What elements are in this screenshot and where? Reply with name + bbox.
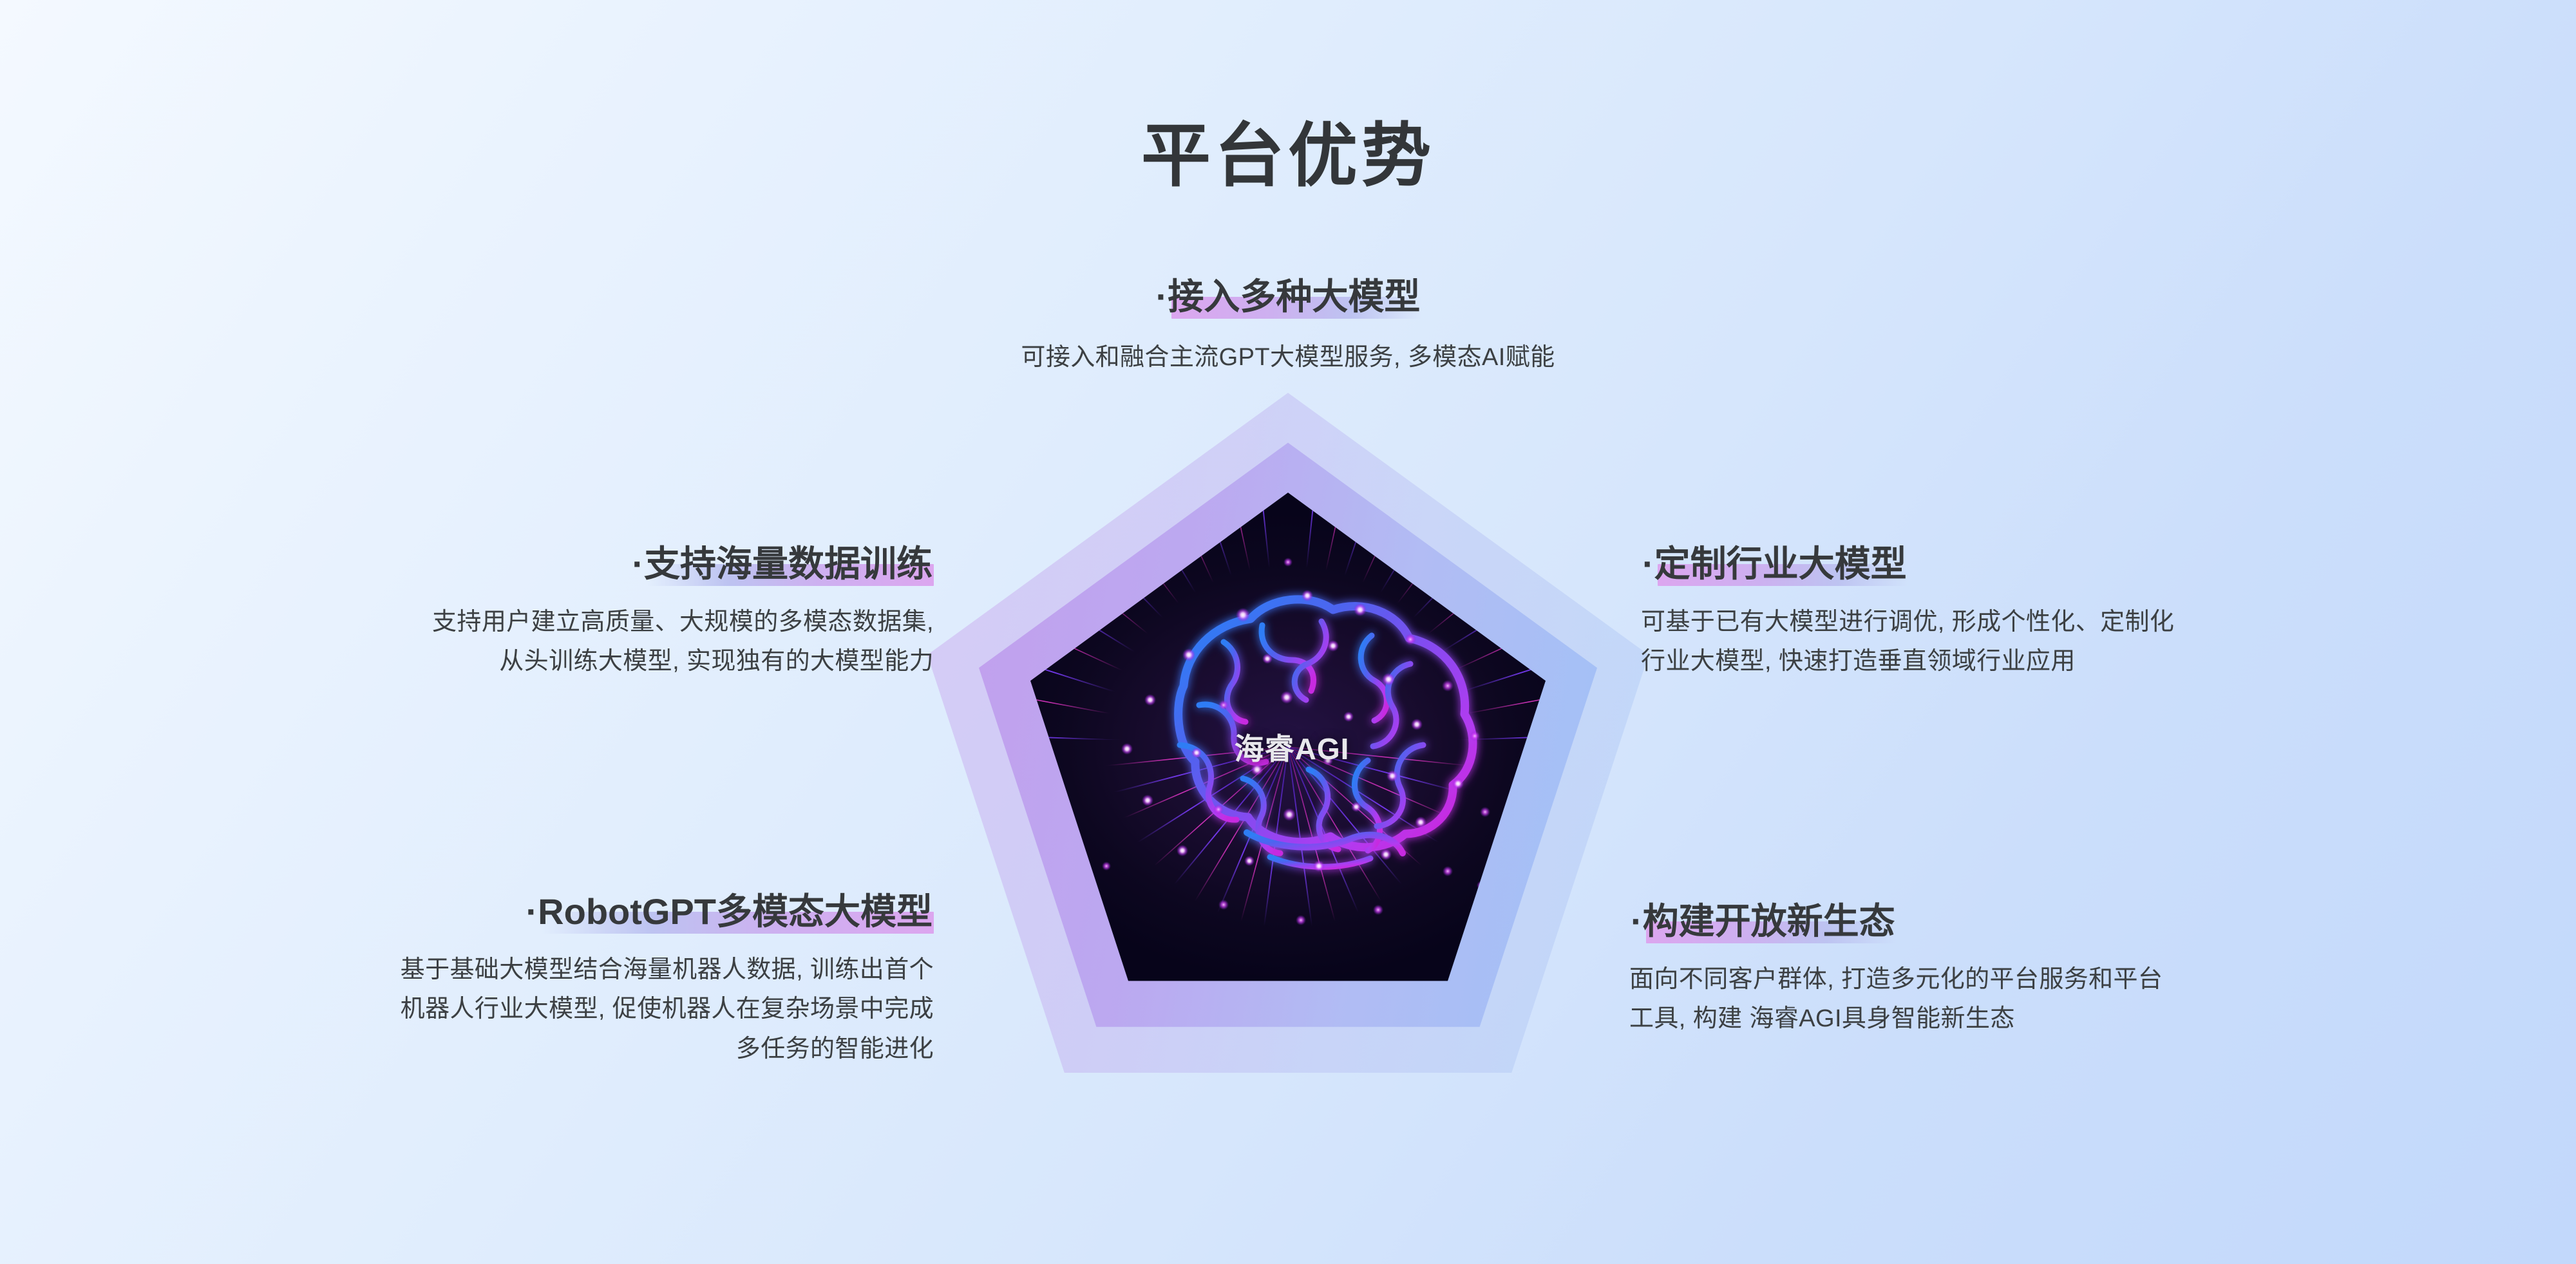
feature-description: 支持用户建立高质量、大规模的多模态数据集, 从头训练大模型, 实现独有的大模型能… [219,603,934,682]
feature-heading-text: ·接入多种大模型 [1156,276,1421,317]
description-line: 支持用户建立高质量、大规模的多模态数据集, [219,603,934,643]
feature-access-multi-models: ·接入多种大模型 可接入和融合主流GPT大模型服务, 多模态AI赋能 [0,277,2576,377]
feature-description: 可基于已有大模型进行调优, 形成个性化、定制化 行业大模型, 快速打造垂直领域行… [1641,603,2414,682]
description-line: 面向不同客户群体, 打造多元化的平台服务和平台 [1629,960,2415,1000]
feature-heading-text: ·构建开放新生态 [1631,901,1895,941]
description-line: 工具, 构建 海睿AGI具身智能新生态 [1629,999,2415,1039]
description-line: 行业大模型, 快速打造垂直领域行业应用 [1641,642,2414,682]
description-line: 从头训练大模型, 实现独有的大模型能力 [219,642,934,682]
feature-heading-text: ·RobotGPT多模态大模型 [526,891,933,932]
feature-heading-text: ·定制行业大模型 [1642,543,1907,584]
page-title: 平台优势 [0,115,2576,196]
feature-heading: ·构建开放新生态 [1629,901,1897,946]
description-line: 可基于已有大模型进行调优, 形成个性化、定制化 [1641,603,2414,643]
feature-robotgpt-multimodal-model: ·RobotGPT多模态大模型 基于基础大模型结合海量机器人数据, 训练出首个 … [193,892,934,1069]
feature-massive-data-training: ·支持海量数据训练 支持用户建立高质量、大规模的多模态数据集, 从头训练大模型,… [219,544,934,682]
description-line: 基于基础大模型结合海量机器人数据, 训练出首个 [193,950,934,990]
feature-heading: ·支持海量数据训练 [630,544,934,589]
description-line: 机器人行业大模型, 促使机器人在复杂场景中完成 [193,990,934,1030]
center-pentagon-graphic: 海睿AGI [927,386,1649,1108]
feature-description: 面向不同客户群体, 打造多元化的平台服务和平台 工具, 构建 海睿AGI具身智能… [1629,960,2415,1039]
feature-heading: ·RobotGPT多模态大模型 [525,892,934,936]
description-line: 多任务的智能进化 [193,1030,934,1070]
feature-description: 基于基础大模型结合海量机器人数据, 训练出首个 机器人行业大模型, 促使机器人在… [193,950,934,1070]
feature-heading-text: ·支持海量数据训练 [632,543,933,584]
feature-heading: ·定制行业大模型 [1641,544,1908,589]
description-line: 可接入和融合主流GPT大模型服务, 多模态AI赋能 [0,338,2576,378]
feature-custom-industry-model: ·定制行业大模型 可基于已有大模型进行调优, 形成个性化、定制化 行业大模型, … [1641,544,2414,682]
feature-open-ecosystem: ·构建开放新生态 面向不同客户群体, 打造多元化的平台服务和平台 工具, 构建 … [1629,901,2415,1039]
feature-description: 可接入和融合主流GPT大模型服务, 多模态AI赋能 [0,338,2576,378]
feature-heading: ·接入多种大模型 [1155,277,1422,321]
